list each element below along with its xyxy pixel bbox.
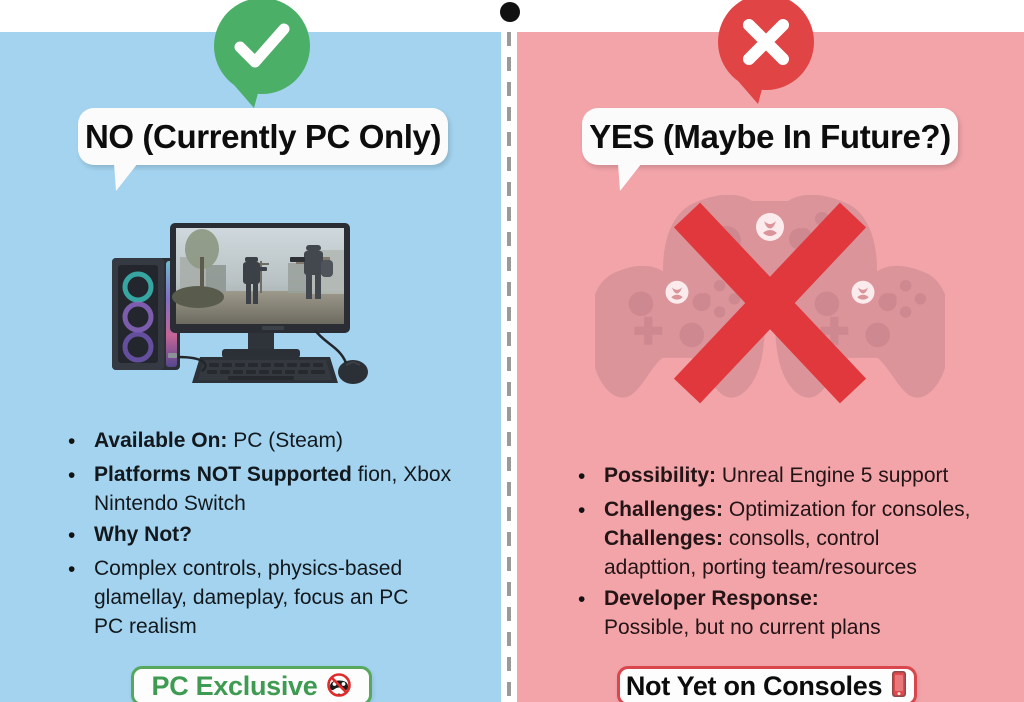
bullet-dot-icon: • — [60, 520, 94, 552]
dashed-divider-line — [507, 32, 511, 702]
bubble-tail — [114, 163, 138, 191]
divider-dot-icon — [500, 2, 520, 22]
left-bullet-list: • Available On: PC (Steam) • Platforms N… — [60, 426, 490, 643]
cross-circle-icon — [718, 0, 814, 90]
bullet-subline-value: consolls, control — [723, 527, 879, 550]
bullet-subline: Nintendo Switch — [94, 489, 490, 518]
list-item: • Available On: PC (Steam) — [60, 426, 490, 458]
bullet-value: Optimization for consoles, — [723, 498, 970, 521]
check-circle-icon — [214, 0, 310, 94]
left-title-bubble: NO (Currently PC Only) — [78, 108, 448, 165]
left-title-label: NO (Currently PC Only) — [85, 118, 441, 156]
bullet-value: Unreal Engine 5 support — [716, 464, 948, 487]
bullet-dot-icon: • — [570, 461, 604, 493]
list-item: • Why Not? — [60, 520, 490, 552]
bullet-dot-icon: • — [570, 584, 604, 616]
badge-label: PC Exclusive — [152, 671, 318, 702]
bullet-value: PC (Steam) — [227, 429, 343, 452]
bullet-label: Why Not? — [94, 523, 192, 546]
bullet-label: Platforms NOT Supported — [94, 463, 352, 486]
mobile-phone-icon — [890, 670, 908, 702]
bullet-dot-icon: • — [60, 460, 94, 492]
bullet-subline: Possible, but no current plans — [604, 613, 1010, 642]
bullet-subline-2: adapttion, porting team/resources — [604, 553, 1010, 582]
pc-exclusive-badge[interactable]: PC Exclusive — [131, 666, 372, 702]
list-item: • Developer Response: Possible, but no c… — [570, 584, 1010, 642]
list-item: • Challenges: Optimization for consoles,… — [570, 495, 1010, 582]
bullet-label: Developer Response: — [604, 587, 819, 610]
bullet-subline-label: Challenges: — [604, 527, 723, 550]
no-gamepad-icon — [326, 671, 352, 702]
badge-label: Not Yet on Consoles — [626, 671, 882, 702]
bullet-subline: glamellay, dameplay, focus an PC — [94, 583, 490, 612]
bullet-subline-2: PC realism — [94, 612, 490, 641]
infographic-root: NO (Currently PC Only) YES (Maybe In Fut… — [0, 0, 1024, 702]
bullet-dot-icon: • — [60, 554, 94, 586]
list-item: • Possibility: Unreal Engine 5 support — [570, 461, 1010, 493]
bullet-value: fion, Xbox — [352, 463, 451, 486]
right-title-label: YES (Maybe In Future?) — [589, 118, 951, 156]
bubble-tail — [618, 163, 642, 191]
bullet-value: Complex controls, physics-based — [94, 557, 402, 580]
list-item: • Complex controls, physics-based glamel… — [60, 554, 490, 641]
not-yet-on-consoles-badge[interactable]: Not Yet on Consoles — [617, 666, 917, 702]
list-item: • Platforms NOT Supported fion, Xbox Nin… — [60, 460, 490, 518]
gaming-pc-illustration — [110, 205, 410, 395]
right-bullet-list: • Possibility: Unreal Engine 5 support •… — [570, 461, 1010, 644]
right-title-bubble: YES (Maybe In Future?) — [582, 108, 958, 165]
bullet-label: Available On: — [94, 429, 227, 452]
bullet-label: Possibility: — [604, 464, 716, 487]
bullet-dot-icon: • — [570, 495, 604, 527]
bullet-label: Challenges: — [604, 498, 723, 521]
xbox-controllers-crossed-illustration — [595, 195, 945, 410]
bullet-dot-icon: • — [60, 426, 94, 458]
